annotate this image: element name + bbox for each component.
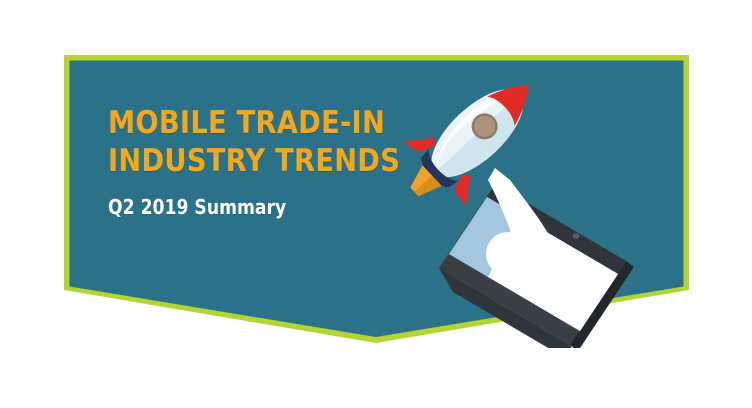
- rocket: [398, 58, 560, 225]
- smartphone: [439, 184, 634, 348]
- headline-line-1: MOBILE TRADE-IN: [108, 104, 372, 142]
- rocket-phone-illustration: [398, 58, 688, 348]
- screenshot-canvas: MOBILE TRADE-IN INDUSTRY TRENDS Q2 2019 …: [0, 0, 752, 408]
- rocket-fin-right: [449, 171, 484, 206]
- cloud-gap-2: [558, 194, 581, 209]
- subheadline: Q2 2019 Summary: [108, 194, 366, 220]
- phone-camera-icon: [573, 233, 580, 238]
- headline-line-2: INDUSTRY TRENDS: [108, 142, 372, 180]
- banner-text-block: MOBILE TRADE-IN INDUSTRY TRENDS Q2 2019 …: [108, 104, 408, 220]
